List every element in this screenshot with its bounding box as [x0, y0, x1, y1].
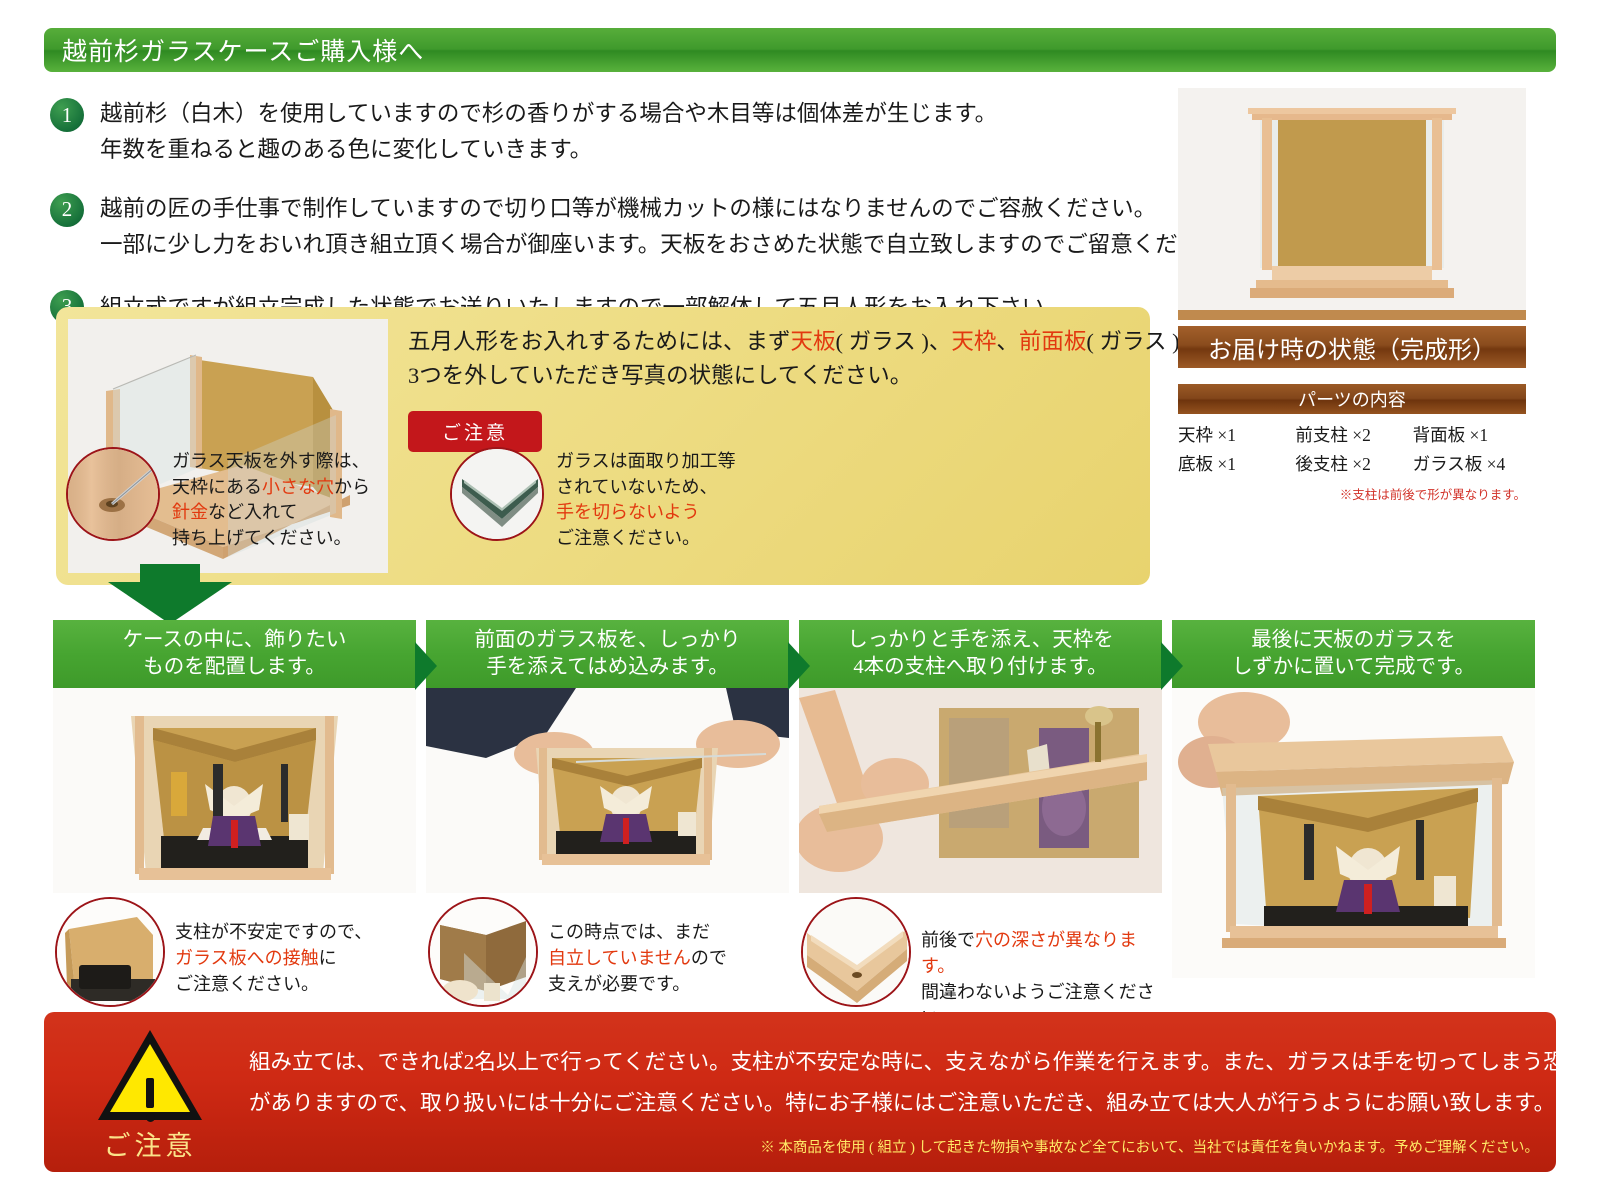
parts-list: 天枠 ×1 前支柱 ×2 背面板 ×1 底板 ×1 後支柱 ×2 ガラス板 ×4	[1178, 422, 1526, 476]
step-header-line: 最後に天板のガラスを	[1251, 627, 1456, 654]
step-header: ケースの中に、飾りたい ものを配置します。	[53, 620, 416, 688]
attaching-top-frame-photo	[799, 688, 1162, 893]
step3-illustration	[799, 688, 1162, 893]
step4-illustration	[1172, 688, 1535, 978]
step-header: しっかりと手を添え、天枠を 4本の支柱へ取り付けます。	[799, 620, 1162, 688]
warning-line: 組み立ては、できれば2名以上で行ってください。支柱が不安定な時に、支えながら作業…	[249, 1042, 1539, 1083]
highlight-small-hole: 小さな穴	[262, 477, 334, 497]
caution-group: ガラス天板を外す際は、 天枠にある小さな穴から 針金など入れて 持ち上げてくださ…	[66, 447, 800, 551]
kabuto-in-case-photo	[53, 688, 416, 893]
glass-edge-illustration	[452, 449, 544, 541]
highlight-zenmenban: 前面板	[1019, 329, 1087, 354]
lead-line-2: 3つを外していただき写真の状態にしてください。	[408, 359, 1134, 393]
step-header-line: ものを配置します。	[143, 654, 325, 681]
unstable-post-closeup	[55, 897, 165, 1007]
assembly-step-3: しっかりと手を添え、天枠を 4本の支柱へ取り付けます。	[799, 620, 1162, 1031]
bottom-warning-banner: ご注意 組み立ては、できれば2名以上で行ってください。支柱が不安定な時に、支えな…	[44, 1012, 1556, 1172]
lead-text-b: ( ガラス )、	[836, 329, 952, 354]
t: から	[334, 477, 370, 497]
t: に	[319, 948, 337, 968]
t: など入れて	[208, 502, 297, 522]
part-item: 前支柱 ×2	[1295, 422, 1408, 447]
product-info-column: お届け時の状態（完成形） パーツの内容 天枠 ×1 前支柱 ×2 背面板 ×1 …	[1178, 88, 1550, 503]
t: 前後で	[921, 930, 975, 950]
step-caption-text: 支柱が不安定ですので、 ガラス板への接触に ご注意ください。	[175, 897, 372, 997]
note-line: 年数を重ねると趣のある色に変化していきます。	[100, 132, 1160, 168]
caption-line: ご注意ください。	[175, 971, 372, 997]
step-header-line: しずかに置いて完成です。	[1232, 654, 1475, 681]
step-header-line: 手を添えてはめ込みます。	[486, 654, 729, 681]
caution-line: 天枠にある小さな穴から	[172, 475, 370, 501]
caption-line: 前後で穴の深さが異なります。	[921, 927, 1162, 979]
inserting-front-glass-photo	[426, 688, 789, 893]
note-number-badge: 2	[50, 193, 84, 227]
assembly-step-4: 最後に天板のガラスを しずかに置いて完成です。	[1172, 620, 1535, 1031]
part-item: 天枠 ×1	[1178, 422, 1291, 447]
highlight-wire: 針金	[172, 502, 208, 522]
disassembly-instruction-panel: 五月人形をお入れするためには、まず天板( ガラス )、天枠、前面板( ガラス )…	[56, 307, 1150, 585]
caption-line: 自立していませんので	[548, 945, 727, 971]
step-header: 最後に天板のガラスを しずかに置いて完成です。	[1172, 620, 1535, 688]
note-number-badge: 1	[50, 98, 84, 132]
step-flow-arrow-icon	[1161, 642, 1183, 690]
completed-case-photo	[1178, 88, 1526, 320]
wire-in-hole-photo	[66, 447, 160, 541]
delivery-state-label: お届け時の状態（完成形）	[1178, 326, 1526, 368]
caution-text: ガラス天板を外す際は、 天枠にある小さな穴から 針金など入れて 持ち上げてくださ…	[172, 447, 370, 551]
warning-disclaimer: ※ 本商品を使用 ( 組立 ) して起きた物損や事故など全てにおいて、当社では責…	[249, 1136, 1539, 1157]
corner-joint-closeup	[801, 897, 911, 1007]
step-caption: この時点では、まだ 自立していませんので 支えが必要です。	[426, 897, 789, 1007]
caption-line: 支柱が不安定ですので、	[175, 919, 372, 945]
lead-line-1: 五月人形をお入れするためには、まず天板( ガラス )、天枠、前面板( ガラス )…	[408, 325, 1134, 359]
caption-line: 支えが必要です。	[548, 971, 727, 997]
yellow-panel-text: 五月人形をお入れするためには、まず天板( ガラス )、天枠、前面板( ガラス )…	[408, 325, 1134, 452]
caution-line: ご注意ください。	[556, 526, 736, 552]
case-not-standing-closeup	[428, 897, 538, 1007]
caution-text: ガラスは面取り加工等 されていないため、 手を切らないよう ご注意ください。	[556, 447, 736, 551]
assembly-steps: ケースの中に、飾りたい ものを配置します。	[53, 620, 1553, 1031]
parts-list-header: パーツの内容	[1178, 384, 1526, 414]
caution-item: ガラスは面取り加工等 されていないため、 手を切らないよう ご注意ください。	[450, 447, 800, 551]
t: 天枠にある	[172, 477, 262, 497]
note-line: 越前の匠の手仕事で制作していますので切り口等が機械カットの様にはなりませんのでご…	[100, 191, 1245, 227]
step-header: 前面のガラス板を、しっかり 手を添えてはめ込みます。	[426, 620, 789, 688]
glass-edge-photo	[450, 447, 544, 541]
step-caption-text: この時点では、まだ 自立していませんので 支えが必要です。	[548, 897, 727, 997]
caution-line: されていないため、	[556, 475, 736, 501]
note-item: 2 越前の匠の手仕事で制作していますので切り口等が機械カットの様にはなりませんの…	[50, 191, 1160, 264]
closeup-illustration	[803, 899, 911, 1007]
warning-text-block: 組み立ては、できれば2名以上で行ってください。支柱が不安定な時に、支えながら作業…	[249, 1042, 1539, 1157]
lead-text-c: 、	[996, 329, 1019, 354]
note-line: 一部に少し力をおいれ頂き組立頂く場合が御座います。天板をおさめた状態で自立致しま…	[100, 227, 1245, 263]
part-item: 底板 ×1	[1178, 451, 1291, 476]
caution-item: ガラス天板を外す際は、 天枠にある小さな穴から 針金など入れて 持ち上げてくださ…	[66, 447, 416, 551]
page-header-bar: 越前杉ガラスケースご購入様へ	[44, 28, 1556, 72]
caption-line: この時点では、まだ	[548, 919, 727, 945]
assembly-step-2: 前面のガラス板を、しっかり 手を添えてはめ込みます。	[426, 620, 789, 1031]
placing-top-glass-photo	[1172, 688, 1535, 978]
highlight-glass-contact: ガラス板への接触	[175, 948, 319, 968]
note-line: 越前杉（白木）を使用していますので杉の香りがする場合や木目等は個体差が生じます。	[100, 96, 1160, 132]
step-flow-arrow-icon	[788, 642, 810, 690]
closeup-illustration	[57, 899, 165, 1007]
warning-icon-label: ご注意	[74, 1124, 226, 1163]
highlight-not-self-standing: 自立していません	[548, 948, 691, 968]
lead-text-a: 五月人形をお入れするためには、まず	[408, 329, 791, 354]
highlight-dont-cut-hand: 手を切らないよう	[556, 500, 736, 526]
caution-line: 持ち上げてください。	[172, 526, 370, 552]
caption-line: ガラス板への接触に	[175, 945, 372, 971]
step1-illustration	[53, 688, 416, 893]
step-header-line: しっかりと手を添え、天枠を	[847, 627, 1114, 654]
highlight-tenban: 天板	[791, 329, 836, 354]
t: ので	[691, 948, 727, 968]
warning-triangle-icon: ご注意	[74, 1030, 226, 1163]
caution-line: 針金など入れて	[172, 500, 370, 526]
step-header-line: 4本の支柱へ取り付けます。	[853, 654, 1107, 681]
assembly-step-1: ケースの中に、飾りたい ものを配置します。	[53, 620, 416, 1031]
step2-illustration	[426, 688, 789, 893]
part-item: 背面板 ×1	[1413, 422, 1526, 447]
instruction-sheet: 越前杉ガラスケースご購入様へ 1 越前杉（白木）を使用していますので杉の香りがす…	[0, 0, 1600, 1200]
part-item: ガラス板 ×4	[1413, 451, 1526, 476]
step-header-line: 前面のガラス板を、しっかり	[474, 627, 740, 654]
warning-line: がありますので、取り扱いには十分にご注意ください。特にお子様にはご注意いただき、…	[249, 1083, 1539, 1124]
flow-arrow-down-icon	[108, 582, 232, 624]
step-header-line: ケースの中に、飾りたい	[123, 627, 347, 654]
caution-line: ガラスは面取り加工等	[556, 449, 736, 475]
part-item: 後支柱 ×2	[1295, 451, 1408, 476]
page-title: 越前杉ガラスケースご購入様へ	[44, 32, 424, 68]
closeup-illustration	[430, 899, 538, 1007]
highlight-tenwaku: 天枠	[951, 329, 996, 354]
step-caption: 支柱が不安定ですので、 ガラス板への接触に ご注意ください。	[53, 897, 416, 1007]
parts-footnote: ※支柱は前後で形が異なります。	[1178, 484, 1526, 503]
step-flow-arrow-icon	[415, 642, 437, 690]
completed-case-illustration	[1178, 88, 1526, 320]
note-item: 1 越前杉（白木）を使用していますので杉の香りがする場合や木目等は個体差が生じま…	[50, 96, 1160, 169]
wire-hole-illustration	[68, 449, 160, 541]
caution-line: ガラス天板を外す際は、	[172, 449, 370, 475]
